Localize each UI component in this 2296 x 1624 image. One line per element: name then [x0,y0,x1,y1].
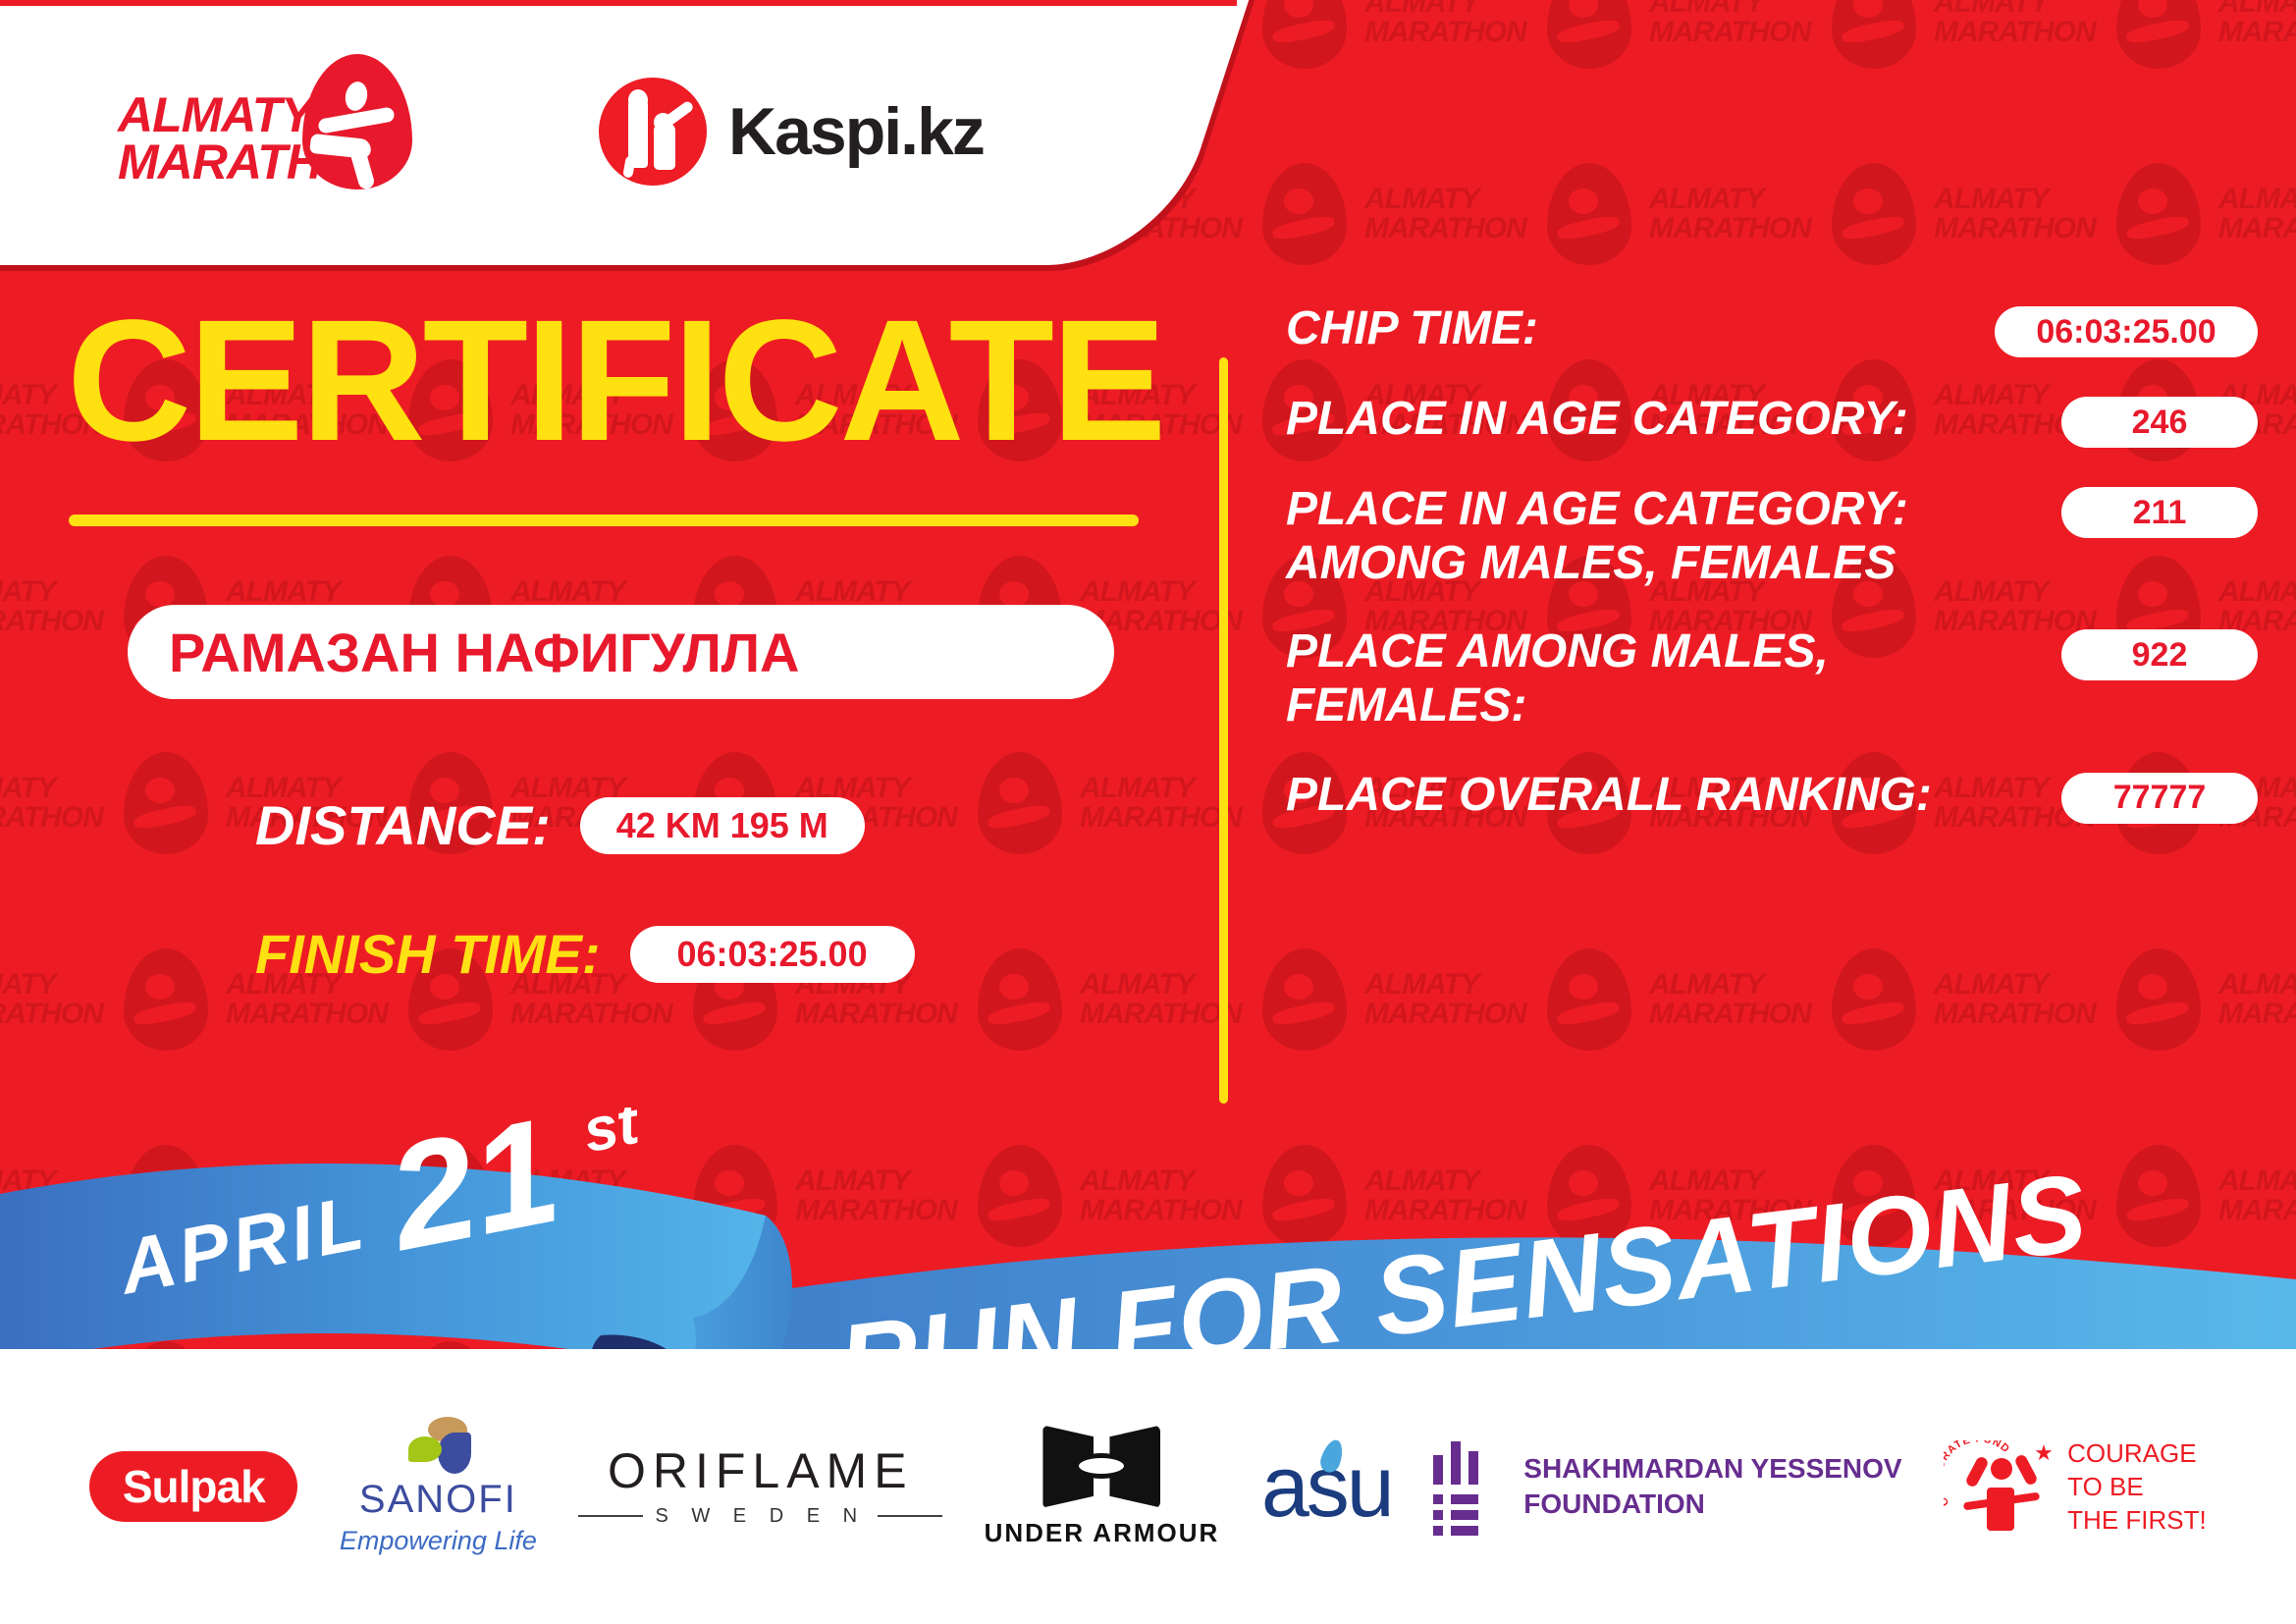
page-title: CERTIFICATE [67,295,1158,467]
place-age-category-label: PLACE IN AGE CATEGORY: [1286,393,1908,447]
almaty-marathon-logo: ALMATY MARATHON [118,58,412,205]
distance-label: DISTANCE: [255,793,551,857]
yessenov-wordmark: SHAKHMARDAN YESSENOV FOUNDATION [1523,1451,1901,1522]
stat-row-place-overall: PLACE OVERALL RANKING: 77777 [1286,769,2258,824]
right-column: CHIP TIME: 06:03:25.00 PLACE IN AGE CATE… [1286,302,2258,859]
kaspi-wordmark: Kaspi.kz [728,93,984,170]
yessenov-line2: FOUNDATION [1523,1487,1901,1522]
watermark-tile: ALMATYMARATHON [2218,0,2296,157]
courage-line1: COURAGE [2067,1436,2207,1470]
finish-time-value: 06:03:25.00 [630,926,915,983]
watermark-tile: ALMATYMARATHON [1364,0,1649,157]
stat-row-place-age-category: PLACE IN AGE CATEGORY: 246 [1286,393,2258,448]
kaspi-logo: Kaspi.kz [599,78,984,186]
courage-line3: THE FIRST! [2067,1503,2207,1537]
svg-text:st: st [578,1108,647,1165]
finish-time-label: FINISH TIME: [255,922,601,986]
place-among-gender-label-line1: PLACE AMONG MALES, [1286,625,1829,679]
chip-time-value: 06:03:25.00 [1995,306,2258,357]
sponsor-bar: Sulpak SANOFI Empowering Life ORIFLAME S… [0,1349,2296,1624]
title-underline [69,514,1139,526]
sponsor-yessenov-foundation: SHAKHMARDAN YESSENOV FOUNDATION [1433,1441,1901,1532]
place-age-category-gender-label-line2: AMONG MALES, FEMALES [1286,537,1908,591]
runner-drop-icon [302,54,412,189]
courage-wordmark: COURAGE TO BE THE FIRST! [2067,1436,2207,1538]
main-content: CERTIFICATE РАМАЗАН НАФИГУЛЛА DISTANCE: … [0,273,2296,1137]
asu-logo: asu [1261,1443,1392,1530]
distance-row: DISTANCE: 42 KM 195 M [255,793,1158,857]
place-age-category-gender-value: 211 [2061,487,2258,538]
yellow-divider [1219,357,1228,1104]
sponsor-sanofi: SANOFI Empowering Life [340,1417,537,1556]
yessenov-bars-icon [1433,1441,1498,1532]
under-armour-icon [1042,1426,1160,1508]
place-among-gender-value: 922 [2061,629,2258,680]
corporate-fund-icon: CORPORATE FUND ★ [1944,1433,2052,1541]
place-overall-value: 77777 [2061,773,2258,824]
chip-time-label: CHIP TIME: [1286,302,1538,356]
finish-time-row: FINISH TIME: 06:03:25.00 [255,922,1158,986]
stat-row-place-age-category-gender: PLACE IN AGE CATEGORY: AMONG MALES, FEMA… [1286,483,2258,590]
place-among-gender-label-line2: FEMALES: [1286,679,1829,733]
place-age-category-gender-label: PLACE IN AGE CATEGORY: AMONG MALES, FEMA… [1286,483,1908,590]
sanofi-bird-icon [402,1417,473,1474]
place-age-category-gender-label-line1: PLACE IN AGE CATEGORY: [1286,483,1908,537]
athlete-name-field: РАМАЗАН НАФИГУЛЛА [128,605,1114,699]
certificate-canvas: ALMATYMARATHONALMATYMARATHONALMATYMARATH… [0,0,2296,1624]
stat-row-chip-time: CHIP TIME: 06:03:25.00 [1286,302,2258,357]
watermark-tile: ALMATYMARATHON [1934,0,2218,157]
header: ALMATY MARATHON Kaspi.kz [0,0,1306,273]
kaspi-family-icon [599,78,707,186]
chip-time-label-line1: CHIP TIME: [1286,302,1538,356]
sulpak-logo: Sulpak [89,1451,297,1522]
sanofi-wordmark: SANOFI [340,1480,537,1519]
oriflame-wordmark: ORIFLAME [578,1446,942,1495]
place-overall-label-line1: PLACE OVERALL RANKING: [1286,769,1932,823]
oriflame-rule-right [878,1515,942,1517]
sponsor-under-armour: UNDER ARMOUR [985,1426,1220,1548]
distance-value: 42 KM 195 M [580,797,865,854]
courage-line2: TO BE [2067,1470,2207,1503]
place-age-category-value: 246 [2061,397,2258,448]
place-age-category-label-line1: PLACE IN AGE CATEGORY: [1286,393,1908,447]
watermark-tile: ALMATYMARATHON [1649,0,1934,157]
oriflame-rule-left [578,1515,643,1517]
sponsor-courage-to-be-first: CORPORATE FUND ★ COURAGE TO BE THE FIRST… [1944,1433,2207,1541]
place-among-gender-label: PLACE AMONG MALES, FEMALES: [1286,625,1829,732]
oriflame-country: S W E D E N [655,1505,866,1528]
stat-row-place-among-gender: PLACE AMONG MALES, FEMALES: 922 [1286,625,2258,732]
yessenov-line1: SHAKHMARDAN YESSENOV [1523,1451,1901,1487]
sponsor-sulpak: Sulpak [89,1451,297,1522]
top-red-rule [0,0,1237,6]
sponsor-asu: asu [1261,1443,1392,1530]
sanofi-tagline: Empowering Life [340,1526,537,1556]
athlete-name-value: РАМАЗАН НАФИГУЛЛА [169,621,800,684]
sponsor-oriflame: ORIFLAME S W E D E N [578,1446,942,1528]
under-armour-wordmark: UNDER ARMOUR [985,1518,1220,1548]
place-overall-label: PLACE OVERALL RANKING: [1286,769,1932,823]
left-column: CERTIFICATE РАМАЗАН НАФИГУЛЛА DISTANCE: … [59,295,1158,986]
